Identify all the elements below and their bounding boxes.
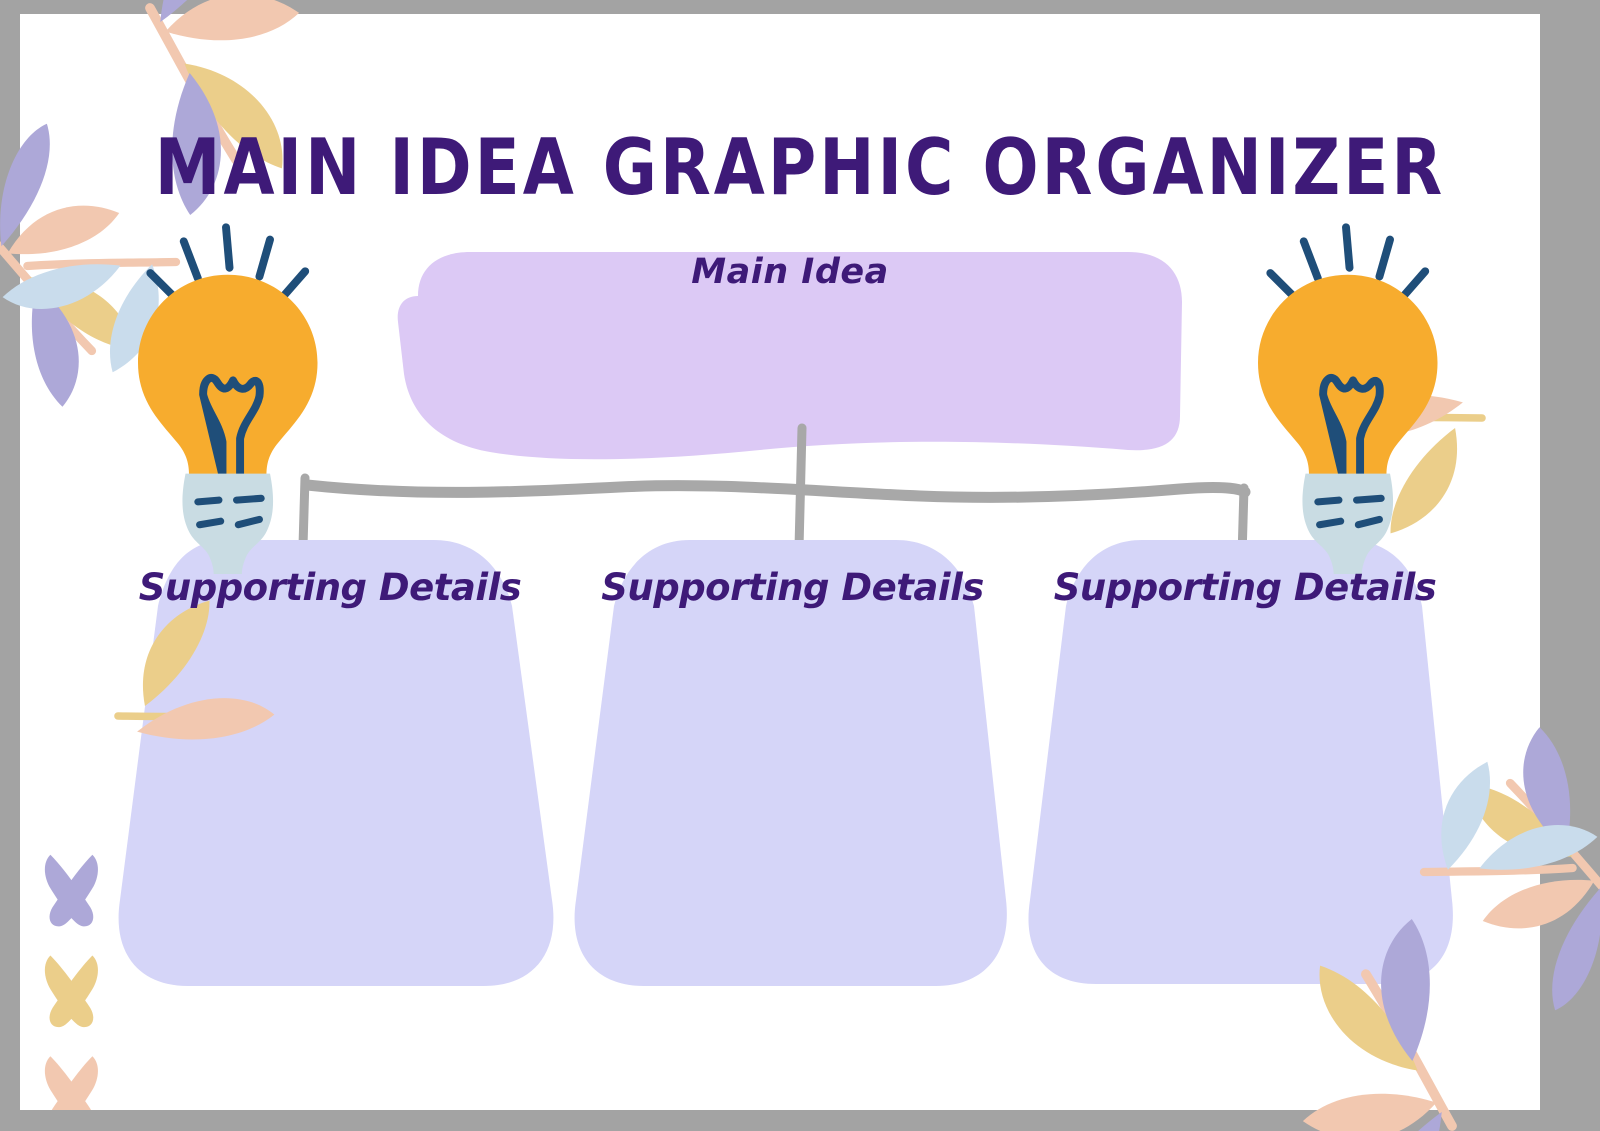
main-idea-label: Main Idea: [400, 252, 1180, 292]
x-mark-peach: [45, 1056, 98, 1128]
graphic-organizer-worksheet: MAIN IDEA GRAPHIC ORGANIZER Main Idea Su…: [0, 0, 1600, 1131]
x-mark-periwinkle: [1545, 246, 1598, 318]
supporting-details-label-1: Supporting Details: [120, 566, 540, 609]
connector-left-drop: [303, 478, 305, 546]
page-title: MAIN IDEA GRAPHIC ORGANIZER: [0, 122, 1600, 213]
supporting-details-label-2: Supporting Details: [585, 566, 1000, 609]
connector-center-stem: [799, 428, 802, 548]
x-mark-peach: [1545, 52, 1598, 124]
x-mark-yellow: [45, 955, 98, 1027]
supporting-details-label-3: Supporting Details: [1040, 566, 1450, 609]
x-marks-left: [45, 855, 98, 1128]
lightbulb-left-icon: [138, 227, 318, 574]
connector-horizontal: [307, 485, 1245, 497]
x-mark-periwinkle: [45, 855, 98, 927]
